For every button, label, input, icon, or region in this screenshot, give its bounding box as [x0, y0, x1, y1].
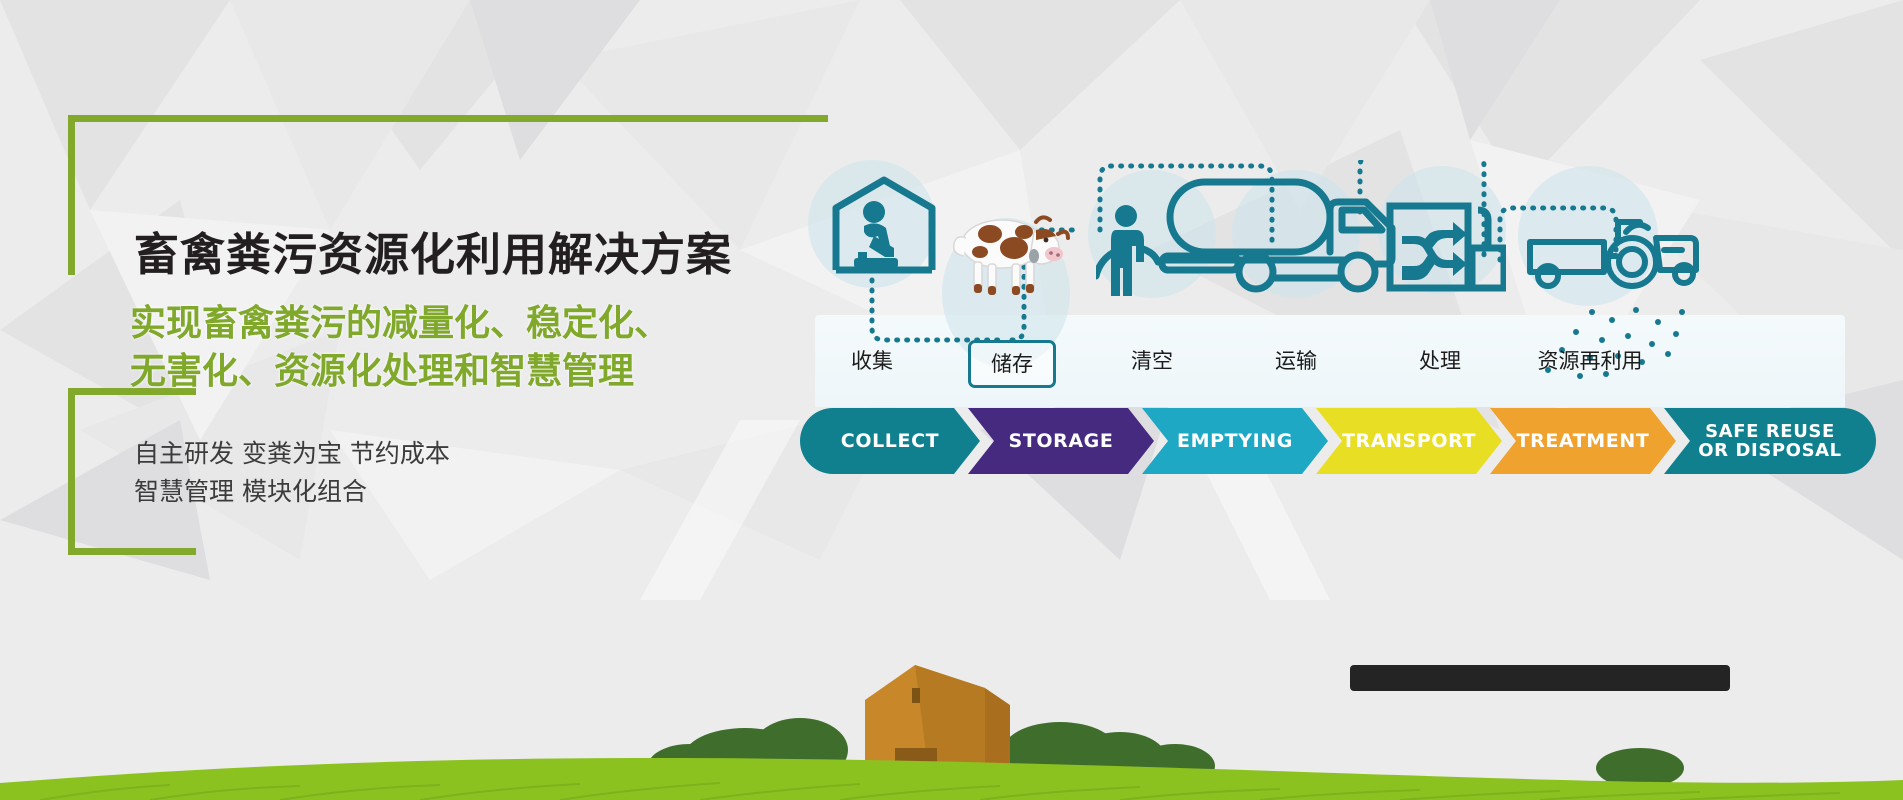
feature-line-2: 智慧管理 模块化组合 [134, 473, 450, 511]
chevron-storage-label: STORAGE [1009, 431, 1114, 452]
chevron-storage[interactable]: STORAGE [968, 408, 1154, 474]
chevron-safe-reuse-label: SAFE REUSEOR DISPOSAL [1698, 422, 1842, 461]
step-label-transport: 运输 [1275, 345, 1317, 375]
step-label-reuse: 资源再利用 [1538, 345, 1643, 375]
step-label-emptying: 清空 [1131, 345, 1173, 375]
mixing-shuffle-icon [1386, 196, 1506, 304]
chevron-emptying-label: EMPTYING [1177, 431, 1293, 452]
step-labels-cn: 收集 清空 运输 处理 资源再利用 [800, 345, 1860, 385]
tractor-spreader-icon [1526, 196, 1706, 304]
chevron-collect-label: COLLECT [841, 431, 939, 452]
subheadline-line-1: 实现畜禽粪污的减量化、稳定化、 [130, 300, 670, 348]
chevron-transport[interactable]: TRANSPORT [1316, 408, 1502, 474]
chevron-treatment[interactable]: TREATMENT [1490, 408, 1676, 474]
step-label-storage-highlight[interactable]: 储存 [968, 340, 1056, 388]
dairy-cow-icon [950, 208, 1070, 300]
chevron-safe-reuse[interactable]: SAFE REUSEOR DISPOSAL [1664, 408, 1876, 474]
subheadline-line-2: 无害化、资源化处理和智慧管理 [130, 348, 670, 396]
hero-banner: 畜禽粪污资源化利用解决方案 实现畜禽粪污的减量化、稳定化、 无害化、资源化处理和… [0, 0, 1903, 800]
page-title: 畜禽粪污资源化利用解决方案 [134, 218, 732, 283]
chevron-transport-label: TRANSPORT [1342, 431, 1476, 452]
step-label-collect: 收集 [851, 345, 893, 375]
feature-line-1: 自主研发 变粪为宝 节约成本 [134, 435, 450, 473]
process-chevron-bar: COLLECT STORAGE EMPTYING TRANSPORT TREAT… [800, 408, 1900, 474]
tanker-truck-icon [1158, 168, 1418, 298]
chevron-emptying[interactable]: EMPTYING [1142, 408, 1328, 474]
chevron-treatment-label: TREATMENT [1517, 431, 1650, 452]
step-label-treatment: 处理 [1419, 345, 1461, 375]
feature-list: 自主研发 变粪为宝 节约成本 智慧管理 模块化组合 [134, 435, 450, 511]
subheadline: 实现畜禽粪污的减量化、稳定化、 无害化、资源化处理和智慧管理 [130, 300, 670, 395]
barn-milking-icon [828, 172, 940, 280]
chevron-collect[interactable]: COLLECT [800, 408, 980, 474]
